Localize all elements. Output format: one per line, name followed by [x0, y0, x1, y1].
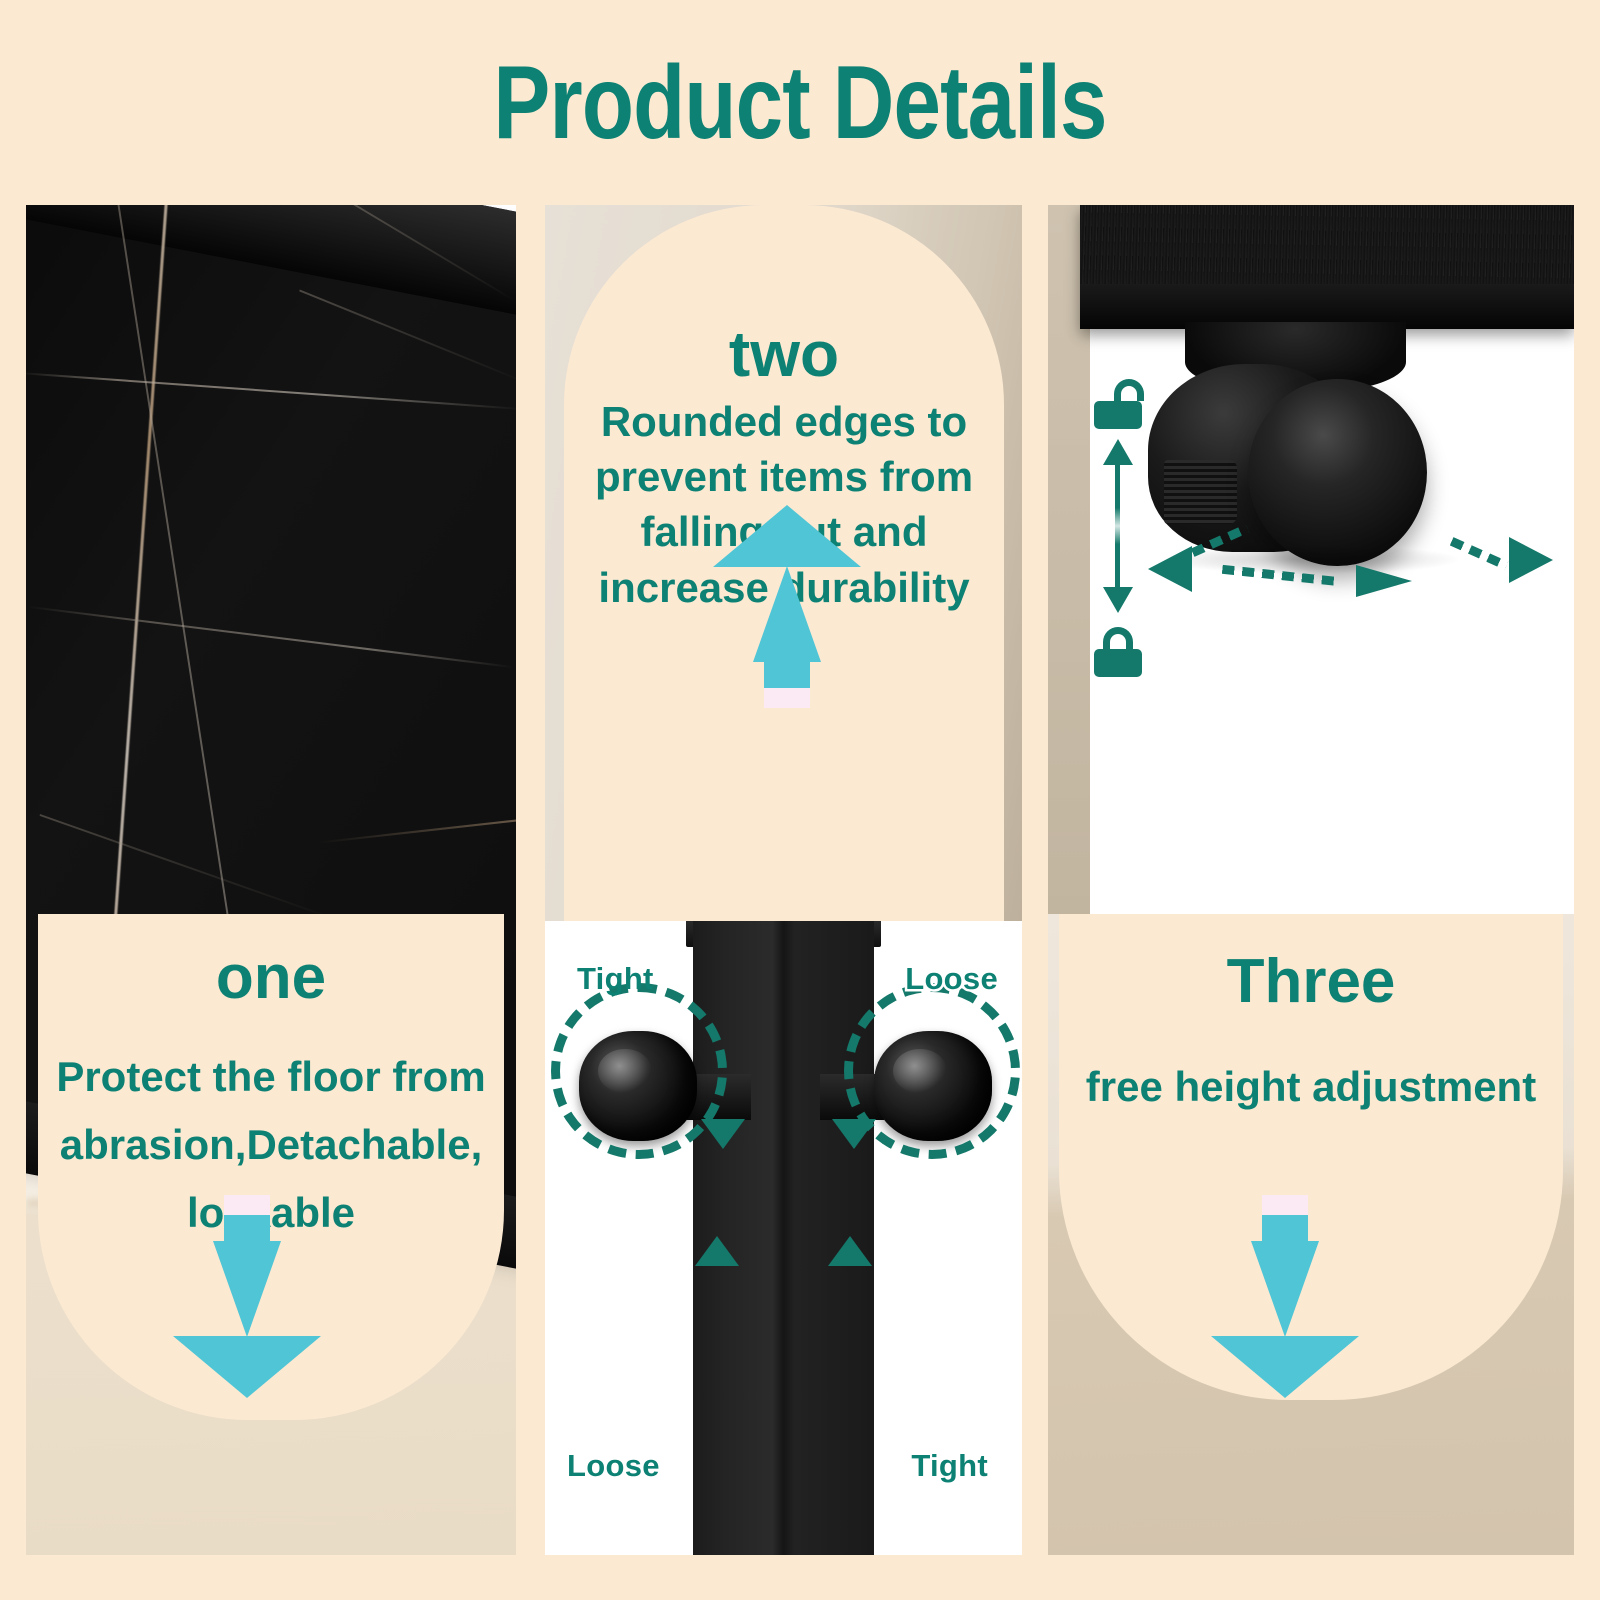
caster-brake-lever[interactable] [1164, 460, 1238, 524]
label-loose-top-right: Loose [905, 961, 998, 997]
caster-wheel [1248, 379, 1427, 567]
up-arrow-icon-panel-two [712, 505, 862, 708]
turn-direction-arrow-icon [701, 1119, 745, 1149]
rotation-arrow-right-icon [1433, 527, 1553, 587]
marble-vein [26, 372, 516, 410]
label-tight-bottom-right: Tight [911, 1448, 988, 1484]
infographic-canvas: Product Details one Protect the floor fr… [0, 0, 1600, 1600]
turn-direction-arrow-icon [828, 1236, 872, 1266]
label-loose-bottom-left: Loose [567, 1448, 660, 1484]
marble-vein [318, 818, 516, 844]
turn-direction-arrow-icon [695, 1236, 739, 1266]
marble-vein [40, 814, 333, 919]
down-arrow-icon-panel-three [1210, 1195, 1360, 1398]
down-arrow-icon-panel-one [172, 1195, 322, 1398]
page-title: Product Details [144, 44, 1456, 163]
up-down-arrow-icon [1098, 439, 1138, 613]
rotation-arrow-center-icon [1222, 561, 1412, 601]
panel-one-number-word: one [38, 942, 504, 1013]
panel-three-number-word: Three [1059, 946, 1563, 1017]
lock-icon [1090, 623, 1146, 677]
marble-vein [28, 606, 514, 668]
footer-band [0, 1555, 1600, 1600]
panel-two-line-1: Rounded edges to [574, 394, 994, 449]
lock-indicator-group [1081, 375, 1155, 677]
marble-rim [26, 205, 516, 318]
panel-two-line-2: prevent items from [574, 449, 994, 504]
panel-one-line-2: abrasion,Detachable, [38, 1111, 504, 1179]
unlock-icon [1090, 375, 1146, 429]
header-band: Product Details [0, 0, 1600, 205]
black-wood-shelf-edge [1080, 205, 1574, 329]
panel-three-description: free height adjustment [1059, 1063, 1563, 1111]
turn-direction-arrow-icon [832, 1119, 876, 1149]
panel-two-number-word: two [564, 321, 1004, 388]
label-tight-top-left: Tight [577, 961, 654, 997]
panel-one-line-1: Protect the floor from [38, 1043, 504, 1111]
black-locking-caster-wheel-photo [1048, 205, 1574, 914]
panel-two: Tight Loose Loose Tight two Rounded edge… [545, 205, 1022, 1555]
